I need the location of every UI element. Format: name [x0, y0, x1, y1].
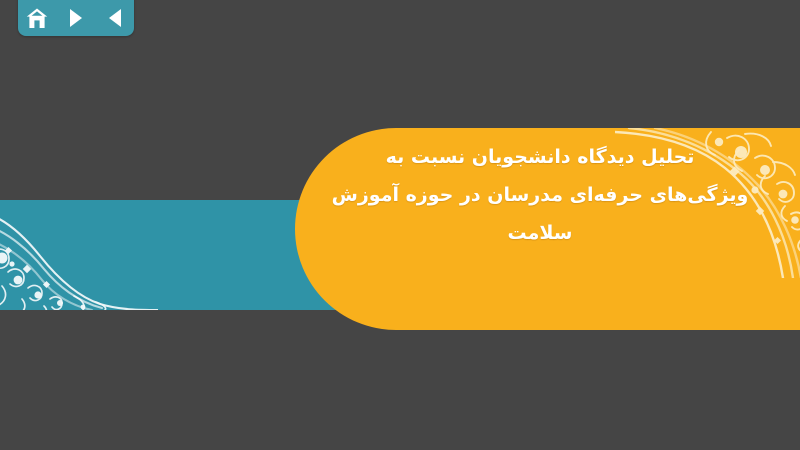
triangle-right-icon — [67, 8, 85, 28]
forward-button[interactable] — [61, 5, 91, 31]
page-title: تحلیل دیدگاه دانشجویان نسبت به ویژگی‌های… — [290, 138, 790, 252]
home-button[interactable] — [22, 5, 52, 31]
teal-arabesque-ornament — [0, 200, 158, 310]
slide-stage: تحلیل دیدگاه دانشجویان نسبت به ویژگی‌های… — [0, 0, 800, 450]
house-icon — [26, 8, 48, 29]
title-line-2: ویژگی‌های حرفه‌ای مدرسان در حوزه آموزش — [290, 176, 790, 214]
triangle-left-icon — [106, 8, 124, 28]
title-line-3: سلامت — [290, 214, 790, 252]
back-button[interactable] — [100, 5, 130, 31]
navigation-toolbar — [18, 0, 134, 36]
title-line-1: تحلیل دیدگاه دانشجویان نسبت به — [290, 138, 790, 176]
